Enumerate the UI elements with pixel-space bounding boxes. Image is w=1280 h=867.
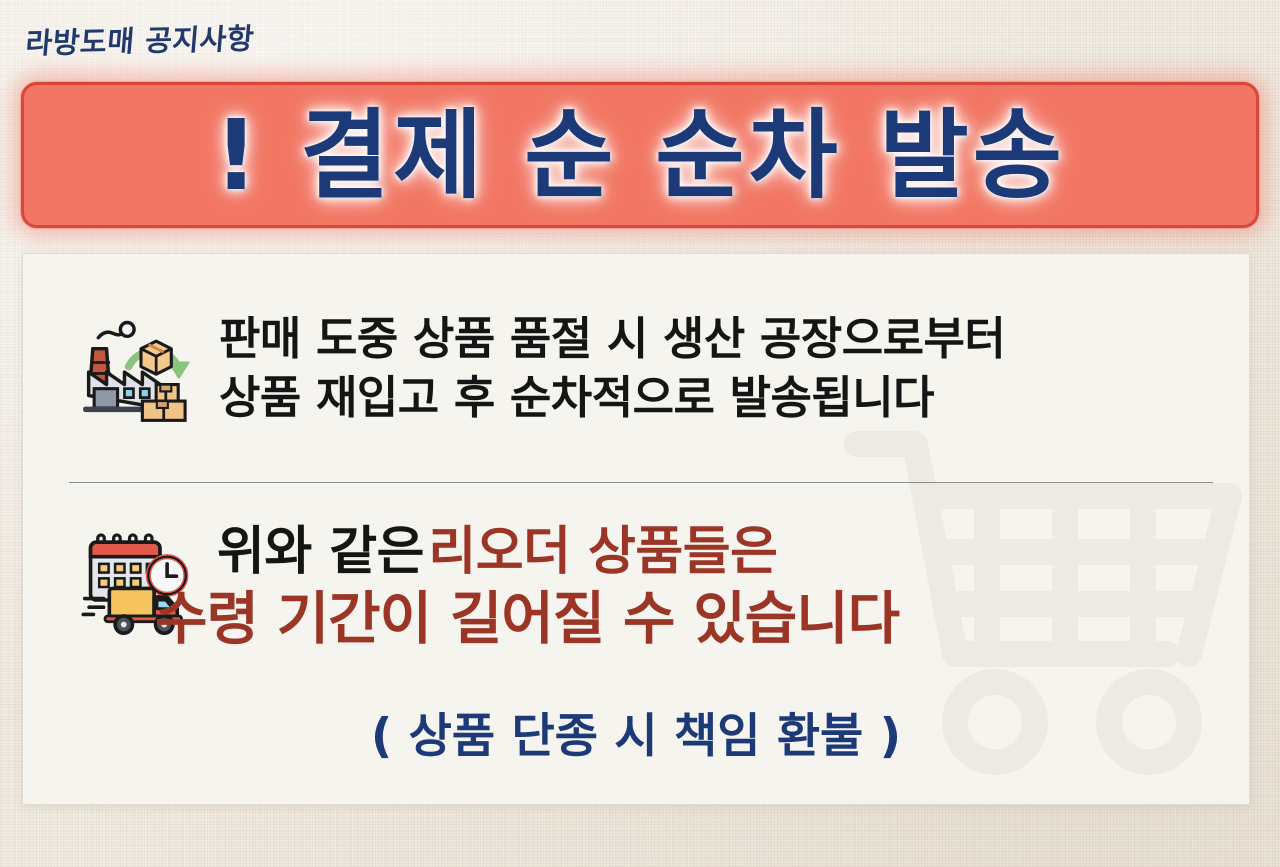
footnote-text: ( 상품 단종 시 책임 환불 ) <box>23 697 1249 766</box>
section-2-line-2: 수령 기간이 길어질 수 있습니다 <box>155 585 1249 653</box>
section-2-lines: 위와 같은 리오더 상품들은 수령 기간이 길어질 수 있습니다 <box>217 521 1249 653</box>
factory-reorder-icon <box>79 307 203 429</box>
section-2-line-1-plain: 위와 같은 <box>217 522 424 582</box>
section-divider <box>69 482 1213 483</box>
title-banner: ! 결제 순 순차 발송 <box>21 82 1259 228</box>
notice-card: 판매 도중 상품 품절 시 생산 공장으로부터 상품 재입고 후 순차적으로 발… <box>22 253 1250 805</box>
notice-section-1: 판매 도중 상품 품절 시 생산 공장으로부터 상품 재입고 후 순차적으로 발… <box>23 254 1249 482</box>
banner-title-text: ! 결제 순 순차 발송 <box>214 107 1066 204</box>
section-2-line-1-highlight: 리오더 상품들은 <box>428 522 777 582</box>
notice-section-2: 위와 같은 리오더 상품들은 수령 기간이 길어질 수 있습니다 <box>23 482 1249 692</box>
section-1-line-2: 상품 재입고 후 순차적으로 발송됩니다 <box>219 368 1249 427</box>
section-1-line-1: 판매 도중 상품 품절 시 생산 공장으로부터 <box>219 309 1249 368</box>
kicker-heading: 라방도매 공지사항 <box>24 16 256 63</box>
section-2-line-1: 위와 같은 리오더 상품들은 <box>217 521 1249 584</box>
section-1-lines: 판매 도중 상품 품절 시 생산 공장으로부터 상품 재입고 후 순차적으로 발… <box>219 309 1249 428</box>
